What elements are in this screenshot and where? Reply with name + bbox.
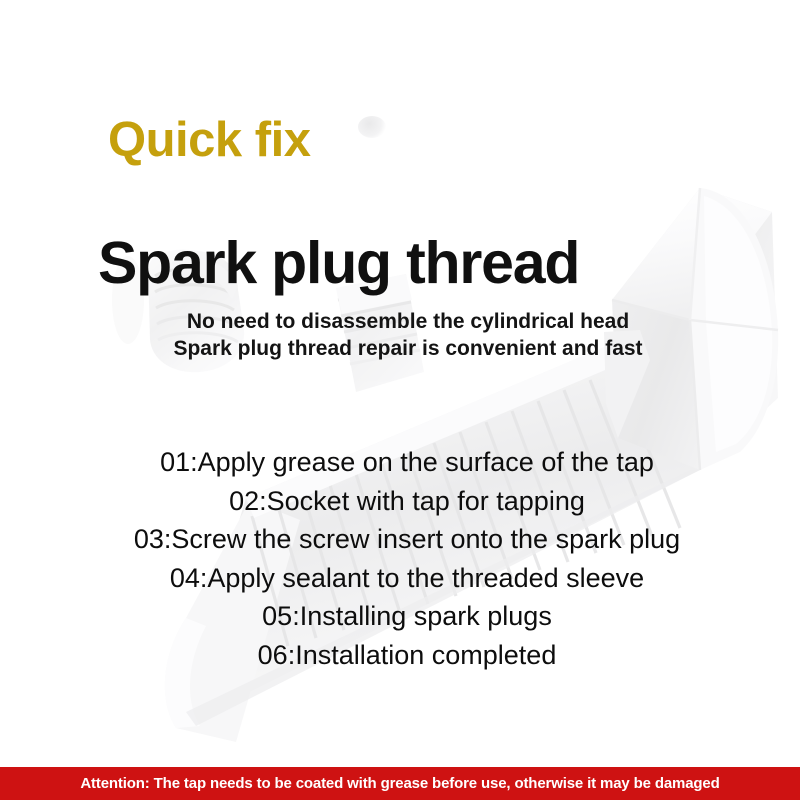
steps-list: 01:Apply grease on the surface of the ta… (0, 443, 800, 674)
page-title: Spark plug thread (98, 230, 579, 298)
attention-banner: Attention: The tap needs to be coated wi… (0, 767, 800, 800)
step-item-06: 06:Installation completed (14, 636, 800, 675)
product-infographic-poster: Quick fix Spark plug thread No need to d… (0, 0, 800, 800)
eyebrow-heading: Quick fix (108, 112, 310, 168)
subtitle-line-2: Spark plug thread repair is convenient a… (16, 335, 800, 362)
subtitle-line-1: No need to disassemble the cylindrical h… (16, 308, 800, 335)
subtitle-block: No need to disassemble the cylindrical h… (0, 308, 800, 362)
attention-banner-text: Attention: The tap needs to be coated wi… (80, 776, 719, 791)
poster-text-layer: Quick fix Spark plug thread No need to d… (0, 0, 800, 800)
step-item-02: 02:Socket with tap for tapping (14, 482, 800, 521)
step-item-05: 05:Installing spark plugs (14, 597, 800, 636)
step-item-01: 01:Apply grease on the surface of the ta… (14, 443, 800, 482)
step-item-04: 04:Apply sealant to the threaded sleeve (14, 559, 800, 598)
step-item-03: 03:Screw the screw insert onto the spark… (14, 520, 800, 559)
